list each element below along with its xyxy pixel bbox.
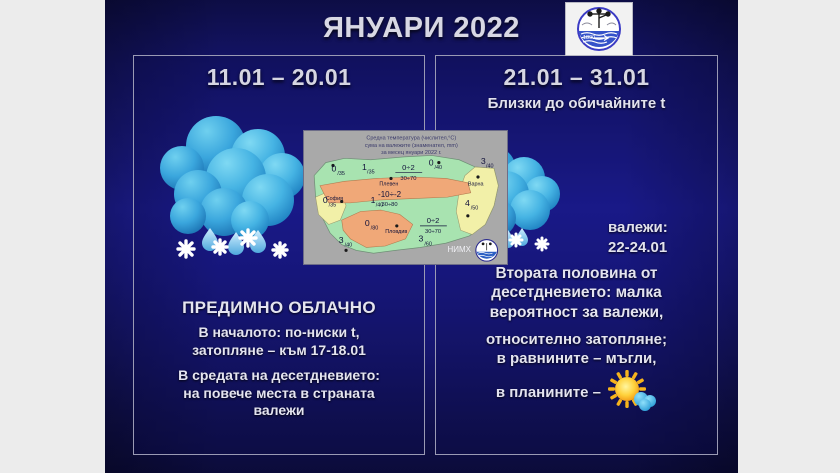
right-paragraph-1: Вторaта половина от десетдневието: малка… <box>436 264 717 322</box>
map-title-line2: сума на валежите (знаменател, mm) <box>365 143 458 149</box>
panel-right-header: 21.01 – 31.01 <box>436 64 717 91</box>
sun-behind-cloud-icon <box>605 369 657 417</box>
presentation-slide: ЯНУАРИ 2022 11.01 – 20.01 <box>105 0 738 473</box>
svg-text:/80: /80 <box>371 226 379 232</box>
left-p2-line3: валежи <box>134 402 424 420</box>
temperature-precipitation-map: Плевен София Варна Пловдив 0/35 1/35 0/4… <box>303 130 508 265</box>
svg-text:0: 0 <box>365 218 370 228</box>
svg-text:/50: /50 <box>471 205 479 211</box>
left-headline: ПРЕДИМНО ОБЛАЧНО <box>134 297 424 318</box>
page-title: ЯНУАРИ 2022 <box>105 12 738 45</box>
svg-text:30÷70: 30÷70 <box>400 176 416 182</box>
nimh-logo: 1890 <box>565 2 633 56</box>
svg-text:3: 3 <box>419 234 424 244</box>
precipitation-dates: 22-24.01 <box>608 238 718 258</box>
precipitation-note: валежи: 22-24.01 <box>608 218 718 259</box>
right-p1-line2: десетдневието: малка <box>436 283 717 302</box>
map-city-plovdiv: Пловдив <box>385 229 407 235</box>
svg-text:3: 3 <box>339 235 344 245</box>
left-paragraph-2: В средата на десетдневието: на повече ме… <box>134 367 424 420</box>
map-city-varna: Варна <box>468 182 484 188</box>
slide-stage: ЯНУАРИ 2022 11.01 – 20.01 <box>0 0 840 473</box>
left-paragraph-1: В началото: по-ниски t, затопляне – към … <box>134 324 424 359</box>
svg-text:/40: /40 <box>486 164 494 170</box>
svg-text:/40: /40 <box>345 243 353 249</box>
panel-right-subheader: Близки до обичайните t <box>436 95 717 112</box>
svg-text:/40: /40 <box>435 165 443 171</box>
svg-text:0÷2: 0÷2 <box>402 163 415 172</box>
svg-text:/60: /60 <box>424 241 432 247</box>
map-city-pleven: Плевен <box>379 182 398 188</box>
right-p2-line3-row: в планините – <box>436 369 717 417</box>
precipitation-label: валежи: <box>608 218 718 238</box>
map-title-line1: Средна температура (числител,°C) <box>366 136 456 142</box>
cloudy-rain-snow-icon <box>158 116 318 266</box>
svg-text:1: 1 <box>371 195 376 205</box>
map-attribution: НИМХ <box>448 245 472 254</box>
map-city-sofia: София <box>326 196 343 202</box>
right-p2-line3: в планините – <box>496 383 601 400</box>
svg-text:3: 3 <box>481 156 486 166</box>
svg-text:-10÷-2: -10÷-2 <box>378 190 402 199</box>
svg-text:30÷80: 30÷80 <box>382 202 398 208</box>
svg-text:/35: /35 <box>367 169 375 175</box>
svg-text:0: 0 <box>332 163 337 173</box>
svg-text:4: 4 <box>465 198 470 208</box>
svg-text:0: 0 <box>323 195 328 205</box>
letterbox-right <box>738 0 840 473</box>
right-p2-line1: относително затопляне; <box>436 331 717 350</box>
map-nimh-logo <box>476 240 498 262</box>
left-p2-line1: В средата на десетдневието: <box>134 367 424 385</box>
left-p2-line2: на повече места в страната <box>134 385 424 403</box>
right-p1-line1: Вторaта половина от <box>436 264 717 283</box>
svg-text:0÷2: 0÷2 <box>427 216 440 225</box>
right-paragraph-2: относително затопляне; в равнините – мъг… <box>436 331 717 416</box>
letterbox-left <box>0 0 105 473</box>
right-p2-line2: в равнините – мъгли, <box>436 350 717 369</box>
left-p1-line1: В началото: по-ниски t, <box>134 324 424 342</box>
svg-text:0: 0 <box>429 158 434 168</box>
right-p1-line3: вероятност за валежи, <box>436 303 717 322</box>
map-title-line3: за месец януари 2022 г. <box>381 150 442 156</box>
svg-text:/35: /35 <box>337 171 345 177</box>
left-p1-line2: затопляне – към 17-18.01 <box>134 342 424 360</box>
logo-year: 1890 <box>583 35 595 41</box>
panel-left-header: 11.01 – 20.01 <box>134 64 424 91</box>
svg-text:30÷70: 30÷70 <box>425 229 441 235</box>
svg-text:1: 1 <box>362 162 367 172</box>
svg-text:/35: /35 <box>329 203 337 209</box>
